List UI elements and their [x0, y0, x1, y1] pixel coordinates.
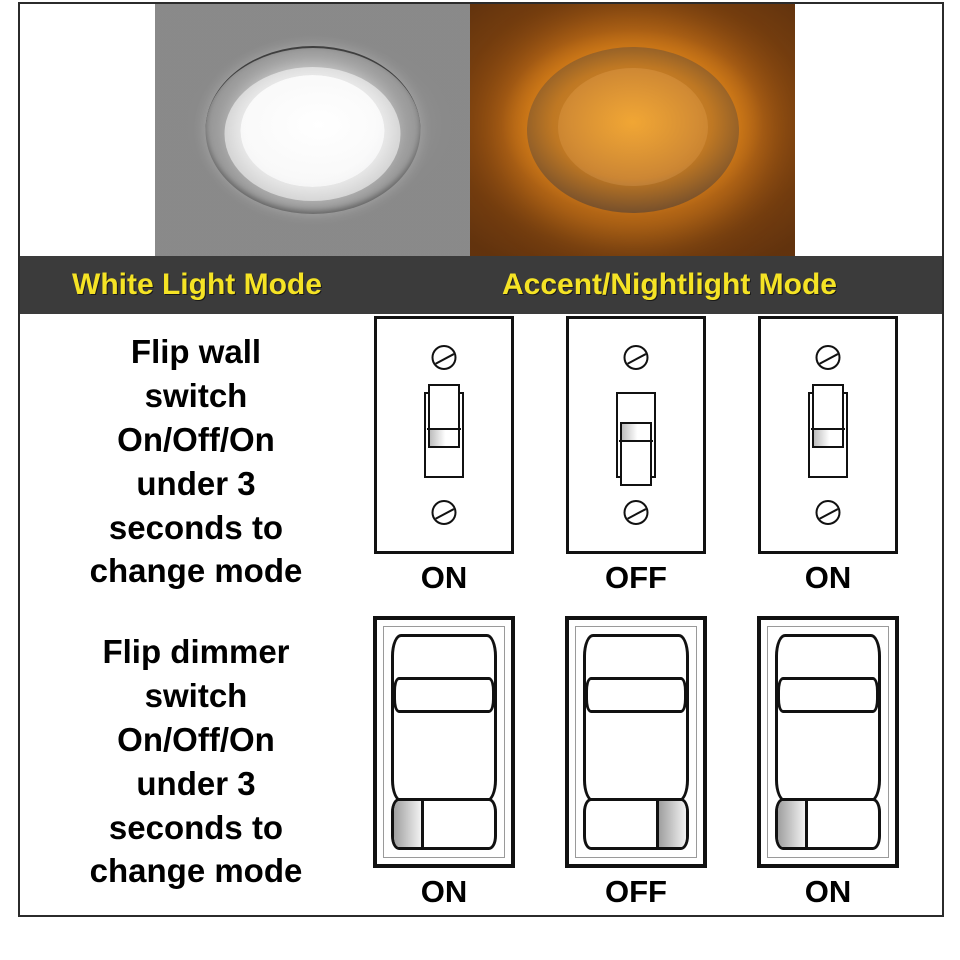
- dimmer-slider-handle[interactable]: [656, 801, 686, 847]
- dimmer-slider-track[interactable]: [583, 798, 689, 850]
- toggle-state-label: OFF: [605, 560, 667, 596]
- screw-icon: [816, 345, 841, 370]
- dimmer-rocker-paddle[interactable]: [775, 634, 881, 802]
- caption-wall-switch: Flip wall switch On/Off/On under 3 secon…: [20, 316, 372, 616]
- caption-text: Flip dimmer switch On/Off/On under 3 sec…: [90, 630, 303, 893]
- dimmer-state-label: ON: [421, 874, 468, 910]
- toggle-lever-down[interactable]: [620, 422, 652, 486]
- dimmer-slider-handle[interactable]: [778, 801, 808, 847]
- toggle-state-label: ON: [421, 560, 468, 596]
- downlight-lens-dark: [558, 68, 708, 186]
- toggle-state-label: ON: [805, 560, 852, 596]
- instruction-rows: Flip wall switch On/Off/On under 3 secon…: [20, 314, 942, 915]
- dimmer-rocker-paddle[interactable]: [583, 634, 689, 802]
- dimmer-switch-sequence: ON OFF: [372, 616, 942, 916]
- screw-icon: [432, 500, 457, 525]
- photo-comparison-strip: [20, 4, 942, 256]
- lever-fulcrum: [811, 428, 845, 430]
- accent-nightlight-photo: [470, 4, 795, 256]
- toggle-switch-body: [616, 392, 656, 478]
- dimmer-switch-step-1[interactable]: ON: [372, 616, 516, 916]
- rocker-seam-band: [393, 677, 495, 713]
- lever-shade: [814, 430, 842, 446]
- white-light-photo: [155, 4, 470, 256]
- lever-fulcrum: [427, 428, 461, 430]
- dimmer-switch-plate[interactable]: [565, 616, 707, 868]
- instruction-row-wall-switch: Flip wall switch On/Off/On under 3 secon…: [20, 316, 942, 616]
- toggle-switch-step-3[interactable]: ON: [756, 316, 900, 616]
- caption-dimmer-switch: Flip dimmer switch On/Off/On under 3 sec…: [20, 616, 372, 916]
- toggle-switch-step-1[interactable]: ON: [372, 316, 516, 616]
- toggle-lever-up[interactable]: [428, 384, 460, 448]
- dimmer-switch-step-3[interactable]: ON: [756, 616, 900, 916]
- dimmer-rocker-paddle[interactable]: [391, 634, 497, 802]
- mode-banner: White Light Mode Accent/Nightlight Mode: [20, 256, 942, 314]
- instruction-row-dimmer-switch: Flip dimmer switch On/Off/On under 3 sec…: [20, 616, 942, 916]
- screw-icon: [432, 345, 457, 370]
- toggle-switch-plate[interactable]: [374, 316, 514, 554]
- dimmer-switch-plate[interactable]: [757, 616, 899, 868]
- banner-label-accent-nightlight: Accent/Nightlight Mode: [502, 268, 837, 302]
- downlight-fixture-white: [205, 46, 420, 214]
- dimmer-switch-step-2[interactable]: OFF: [564, 616, 708, 916]
- dimmer-state-label: ON: [805, 874, 852, 910]
- toggle-lever-up[interactable]: [812, 384, 844, 448]
- dimmer-state-label: OFF: [605, 874, 667, 910]
- screw-icon: [816, 500, 841, 525]
- rocker-seam-band: [585, 677, 687, 713]
- toggle-switch-body: [424, 392, 464, 478]
- downlight-trim-ring: [225, 67, 401, 201]
- toggle-switch-body: [808, 392, 848, 478]
- caption-text: Flip wall switch On/Off/On under 3 secon…: [90, 330, 303, 593]
- dimmer-switch-plate[interactable]: [373, 616, 515, 868]
- banner-label-white-light: White Light Mode: [72, 268, 322, 302]
- mode-switching-infographic: White Light Mode Accent/Nightlight Mode …: [0, 0, 960, 960]
- toggle-switch-sequence: ON OFF: [372, 316, 942, 616]
- downlight-lens-lit: [241, 75, 385, 187]
- toggle-switch-plate[interactable]: [758, 316, 898, 554]
- toggle-switch-plate[interactable]: [566, 316, 706, 554]
- toggle-switch-step-2[interactable]: OFF: [564, 316, 708, 616]
- lever-fulcrum: [619, 440, 653, 442]
- rocker-seam-band: [777, 677, 879, 713]
- screw-icon: [624, 345, 649, 370]
- lever-shade: [622, 424, 650, 440]
- dimmer-slider-track[interactable]: [775, 798, 881, 850]
- dimmer-slider-track[interactable]: [391, 798, 497, 850]
- dimmer-slider-handle[interactable]: [394, 801, 424, 847]
- screw-icon: [624, 500, 649, 525]
- downlight-fixture-accent: [527, 47, 739, 213]
- lever-shade: [430, 430, 458, 446]
